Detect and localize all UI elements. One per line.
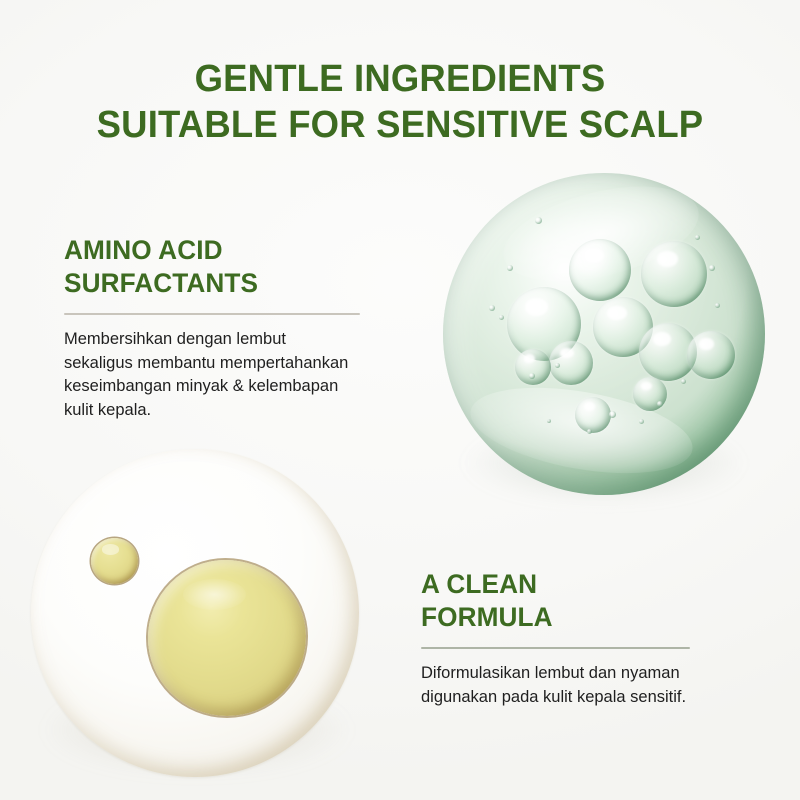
dish-rim — [31, 449, 359, 777]
feature-body-amino-acid-surfactants: Membersihkan dengan lembut sekaligus mem… — [64, 328, 424, 422]
feature-body-line-2: sekaligus membantu mempertahankan — [64, 352, 424, 376]
feature-title-line-1: A CLEAN — [421, 568, 770, 601]
feature-block-amino-acid-surfactants: AMINO ACID SURFACTANTS Membersihkan deng… — [64, 234, 424, 422]
feature-title-line-2: FORMULA — [421, 601, 770, 634]
feature-block-a-clean-formula: A CLEAN FORMULA Diformulasikan lembut da… — [421, 568, 781, 709]
feature-title-amino-acid-surfactants: AMINO ACID SURFACTANTS — [64, 234, 413, 300]
feature-body-line-1: Membersihkan dengan lembut — [64, 328, 424, 352]
gel-rim-left — [443, 173, 765, 495]
feature-title-line-1: AMINO ACID — [64, 234, 413, 267]
feature-title-a-clean-formula: A CLEAN FORMULA — [421, 568, 770, 634]
green-gel-droplet-image — [443, 173, 765, 495]
feature-divider-clean — [421, 647, 690, 649]
feature-body-line-1: Diformulasikan lembut dan nyaman — [421, 662, 781, 686]
feature-title-line-2: SURFACTANTS — [64, 267, 413, 300]
feature-divider-amino — [64, 313, 360, 315]
headline-line-1: GENTLE INGREDIENTS — [16, 56, 784, 102]
feature-body-line-4: kulit kepala. — [64, 399, 424, 423]
infographic-poster: GENTLE INGREDIENTS SUITABLE FOR SENSITIV… — [0, 0, 800, 800]
feature-body-line-2: digunakan pada kulit kepala sensitif. — [421, 686, 781, 710]
headline-line-2: SUITABLE FOR SENSITIVE SCALP — [16, 102, 784, 148]
page-title: GENTLE INGREDIENTS SUITABLE FOR SENSITIV… — [16, 56, 784, 148]
yellow-oil-dish-image — [31, 449, 359, 777]
feature-body-line-3: keseimbangan minyak & kelembapan — [64, 375, 424, 399]
feature-body-a-clean-formula: Diformulasikan lembut dan nyaman digunak… — [421, 662, 781, 709]
